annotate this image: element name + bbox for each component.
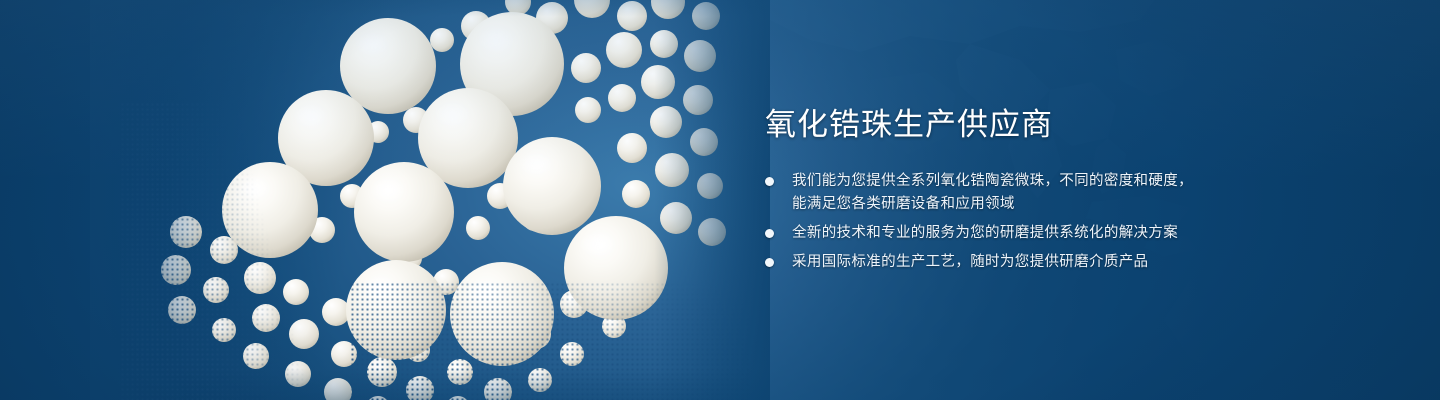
banner-copy-block: 氧化锆珠生产供应商 我们能为您提供全系列氧化锆陶瓷微珠，不同的密度和硬度， 能满… — [765, 104, 1225, 274]
bullet-item-1: 我们能为您提供全系列氧化锆陶瓷微珠，不同的密度和硬度， 能满足您各类研磨设备和应… — [765, 170, 1225, 216]
bullet-text-3-line1: 采用国际标准的生产工艺，随时为您提供研磨介质产品 — [792, 254, 1148, 270]
bullet-dot-icon — [765, 177, 774, 186]
bullet-text-2-line1: 全新的技术和专业的服务为您的研磨提供系统化的解决方案 — [792, 225, 1178, 241]
bullet-text-1-line2: 能满足您各类研磨设备和应用领域 — [792, 193, 1225, 216]
banner-headline: 氧化锆珠生产供应商 — [765, 104, 1225, 146]
bullet-dot-icon — [765, 258, 774, 267]
hero-banner: 氧化锆珠生产供应商 我们能为您提供全系列氧化锆陶瓷微珠，不同的密度和硬度， 能满… — [0, 0, 1440, 400]
bullet-dot-icon — [765, 229, 774, 238]
bullet-text-1-line1: 我们能为您提供全系列氧化锆陶瓷微珠，不同的密度和硬度， — [792, 173, 1193, 189]
bullet-item-3: 采用国际标准的生产工艺，随时为您提供研磨介质产品 — [765, 251, 1225, 274]
banner-bullet-list: 我们能为您提供全系列氧化锆陶瓷微珠，不同的密度和硬度， 能满足您各类研磨设备和应… — [765, 170, 1225, 274]
bullet-item-2: 全新的技术和专业的服务为您的研磨提供系统化的解决方案 — [765, 222, 1225, 245]
